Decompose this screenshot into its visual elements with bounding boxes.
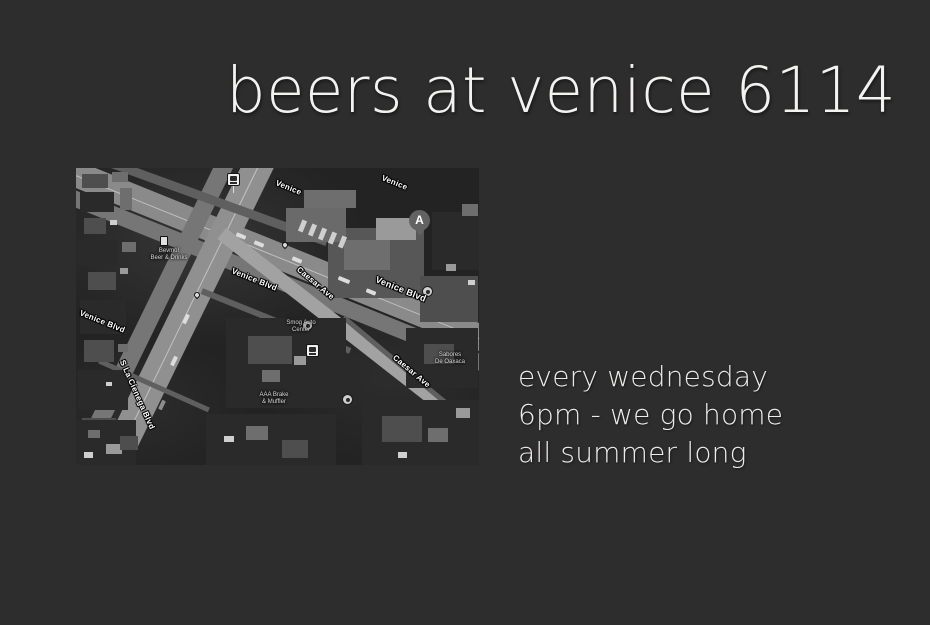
tagline-line-3: all summer long — [518, 434, 783, 472]
place-label-aaa-brake-muffler: AAA Brake & Muffler — [246, 392, 302, 406]
poi-marker-icon[interactable] — [342, 394, 353, 405]
tagline-block: every wednesday 6pm - we go home all sum… — [518, 358, 783, 472]
bus-stop-pole — [233, 186, 234, 193]
tagline-line-2: 6pm - we go home — [518, 396, 783, 434]
map-image[interactable]: Bevmo! Beer & Drinks Sabores De Oaxaca A… — [76, 168, 479, 465]
pedestrian-icon — [160, 236, 168, 246]
bus-stop-icon[interactable] — [227, 173, 240, 186]
map-marker-a[interactable]: A — [409, 210, 430, 240]
place-label-bevmo: Bevmo! Beer & Drinks — [136, 248, 202, 262]
page-title: beers at venice 6114 — [226, 58, 896, 124]
place-label-smog-auto-center: Smog Auto Center — [272, 320, 330, 334]
poster-canvas: beers at venice 6114 — [0, 0, 930, 625]
map-canvas: Bevmo! Beer & Drinks Sabores De Oaxaca A… — [76, 168, 479, 465]
transit-station-icon[interactable] — [306, 344, 319, 357]
tagline-line-1: every wednesday — [518, 358, 783, 396]
marker-label: A — [409, 210, 430, 231]
place-label-sabores-de-oaxaca: Sabores De Oaxaca — [424, 352, 476, 366]
